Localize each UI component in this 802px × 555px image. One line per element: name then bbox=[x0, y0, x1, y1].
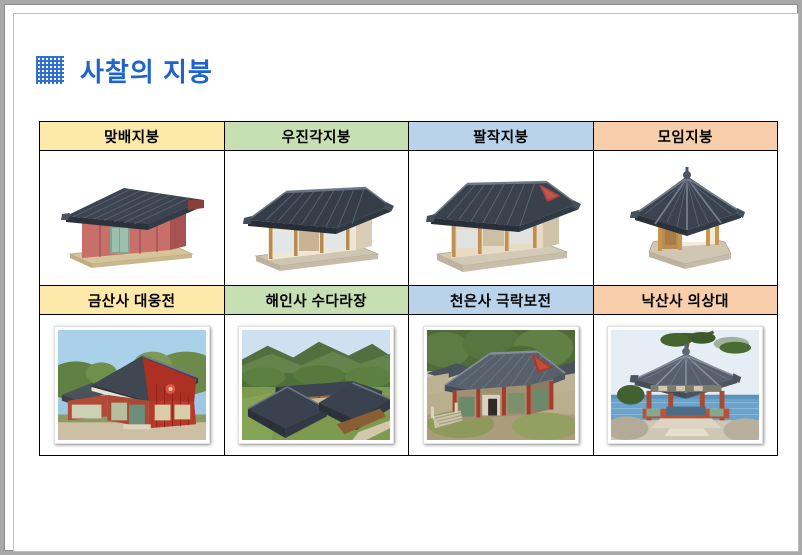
roof-type-header-3: 팔작지붕 bbox=[409, 122, 594, 151]
slide-canvas: 사찰의 지붕 맞배지붕 우진각지붕 팔작지붕 모임지붕 bbox=[13, 13, 799, 552]
model-cell-3 bbox=[409, 151, 594, 286]
roof-type-header-1: 맞배지붕 bbox=[40, 122, 225, 151]
roof-types-table: 맞배지붕 우진각지붕 팔작지붕 모임지붕 bbox=[39, 121, 778, 456]
table-row-type-headers: 맞배지붕 우진각지붕 팔작지붕 모임지붕 bbox=[40, 122, 778, 151]
table-row-example-headers: 금산사 대웅전 해인사 수다라장 천은사 극락보전 낙산사 의상대 bbox=[40, 286, 778, 315]
example-header-4: 낙산사 의상대 bbox=[593, 286, 778, 315]
page-title: 사찰의 지붕 bbox=[80, 52, 213, 89]
model-cell-4 bbox=[593, 151, 778, 286]
photo-cell-4 bbox=[593, 315, 778, 456]
page-border: 사찰의 지붕 맞배지붕 우진각지붕 팔작지붕 모임지붕 bbox=[4, 4, 798, 551]
table-row-model-images bbox=[40, 151, 778, 286]
photo-cell-3 bbox=[409, 315, 594, 456]
gable-roof-model bbox=[40, 151, 224, 285]
table-row-photos bbox=[40, 315, 778, 456]
pyramidal-roof-model bbox=[594, 151, 778, 285]
window-frame: 사찰의 지붕 맞배지붕 우진각지붕 팔작지붕 모임지붕 bbox=[0, 0, 802, 555]
naksansa-uisangdae-photo bbox=[607, 326, 763, 444]
cheoneunsa-geungnakbojeon-photo bbox=[423, 326, 579, 444]
haeinsa-sudarajang-photo bbox=[238, 326, 394, 444]
blue-grid-icon bbox=[36, 56, 64, 84]
hipped-roof-model bbox=[225, 151, 409, 285]
roof-type-header-4: 모임지붕 bbox=[593, 122, 778, 151]
example-header-2: 해인사 수다라장 bbox=[224, 286, 409, 315]
model-cell-1 bbox=[40, 151, 225, 286]
example-header-3: 천은사 극락보전 bbox=[409, 286, 594, 315]
geumsansa-daeungjeon-photo bbox=[54, 326, 210, 444]
slide-title-row: 사찰의 지붕 bbox=[36, 52, 213, 88]
photo-cell-2 bbox=[224, 315, 409, 456]
photo-cell-1 bbox=[40, 315, 225, 456]
example-header-1: 금산사 대웅전 bbox=[40, 286, 225, 315]
model-cell-2 bbox=[224, 151, 409, 286]
roof-type-header-2: 우진각지붕 bbox=[224, 122, 409, 151]
hip-and-gable-roof-model bbox=[409, 151, 593, 285]
